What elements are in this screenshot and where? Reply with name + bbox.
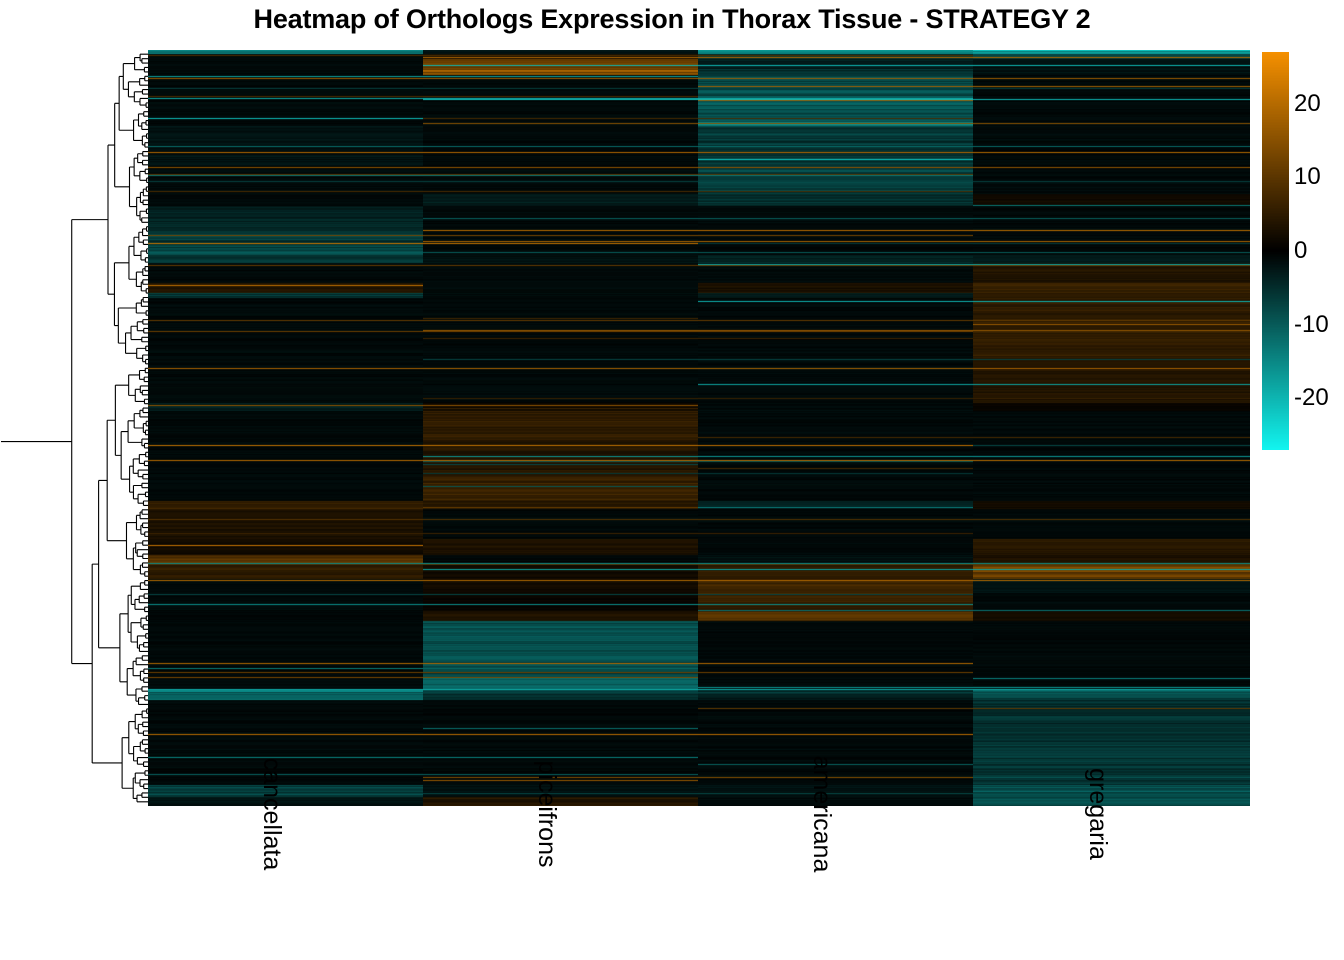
column-label-americana: americana xyxy=(807,756,836,873)
column-label-cell: gregaria xyxy=(973,806,1250,960)
heatmap-column-americana xyxy=(698,50,973,806)
heatmap-column-canvas xyxy=(423,50,698,806)
colorbar-tick-minus10: -10 xyxy=(1294,311,1329,339)
dendrogram-branches xyxy=(1,54,148,802)
heatmap-column-canvas xyxy=(148,50,423,806)
page-title: Heatmap of Orthologs Expression in Thora… xyxy=(0,4,1344,35)
heatmap-column-canvas xyxy=(698,50,973,806)
column-label-cancellata: cancellata xyxy=(257,758,286,871)
heatmap-column-cancellata xyxy=(148,50,423,806)
colorbar-tick-10: 10 xyxy=(1294,163,1321,191)
heatmap-figure: Heatmap of Orthologs Expression in Thora… xyxy=(0,0,1344,960)
column-label-gregaria: gregaria xyxy=(1083,768,1112,860)
column-label-cell: cancellata xyxy=(148,806,423,960)
column-labels: cancellatapiceifronsamericanagregaria xyxy=(148,806,1250,960)
colorbar-ticks: 20100-10-20 xyxy=(1294,52,1344,450)
heatmap-column-canvas xyxy=(973,50,1250,806)
heatmap-column-gregaria xyxy=(973,50,1250,806)
colorbar-tick-20: 20 xyxy=(1294,90,1321,118)
colorbar-tick-minus20: -20 xyxy=(1294,384,1329,412)
colorbar xyxy=(1262,52,1289,450)
colorbar-tick-0: 0 xyxy=(1294,237,1307,265)
column-label-cell: piceifrons xyxy=(423,806,698,960)
column-label-cell: americana xyxy=(698,806,973,960)
heatmap-column-piceifrons xyxy=(423,50,698,806)
heatmap-grid xyxy=(148,50,1250,806)
row-dendrogram xyxy=(0,50,148,806)
column-label-piceifrons: piceifrons xyxy=(532,761,561,868)
